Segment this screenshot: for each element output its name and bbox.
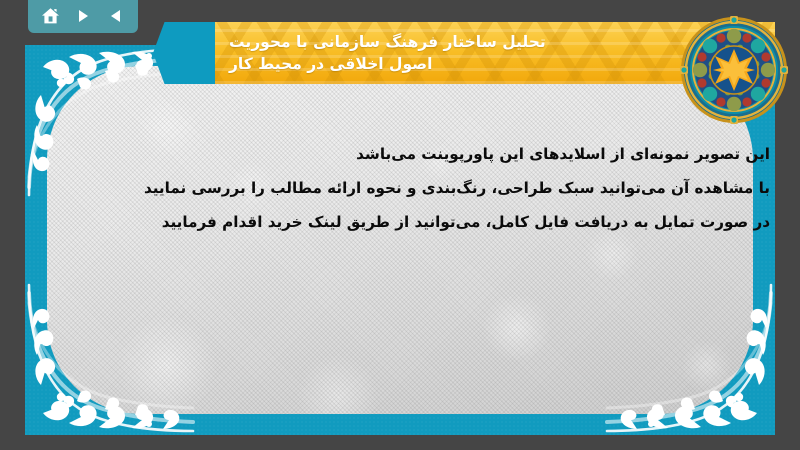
slide-title-line-2: اصول اخلاقی در محیط کار: [229, 54, 432, 74]
navigation-bar[interactable]: [28, 0, 138, 33]
forward-arrow-icon: [75, 8, 91, 24]
home-icon: [41, 7, 60, 25]
body-line-3: در صورت تمایل به دریافت فایل کامل، می‌تو…: [60, 206, 770, 240]
body-line-1: این تصویر نمونه‌ای از اسلایدهای این پاور…: [60, 138, 770, 172]
previous-slide-button[interactable]: [103, 4, 129, 28]
slide-title-line-1: تحلیل ساختار فرهنگ سازمانی با محوریت: [229, 32, 546, 52]
next-slide-button[interactable]: [70, 4, 96, 28]
banner-chevron-tip: [153, 22, 217, 84]
back-arrow-icon: [108, 8, 124, 24]
slide-body-text: این تصویر نمونه‌ای از اسلایدهای این پاور…: [60, 138, 770, 239]
home-button[interactable]: [37, 4, 63, 28]
content-panel: [47, 66, 753, 414]
slide-canvas: تحلیل ساختار فرهنگ سازمانی با محوریت اصو…: [0, 0, 800, 450]
body-line-2: با مشاهده آن می‌توانید سبک طراحی، رنگ‌بن…: [60, 172, 770, 206]
persian-medallion-icon: [680, 16, 788, 124]
